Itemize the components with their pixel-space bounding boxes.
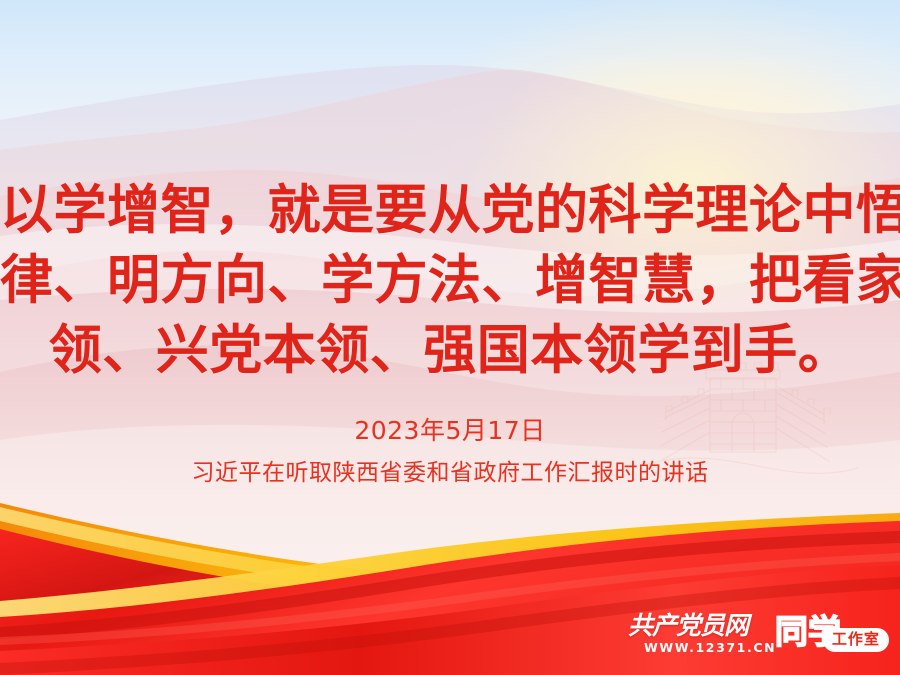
brand-name: 共产党员网 xyxy=(628,612,748,640)
headline-block: 以学增智，就是要从党的科学理论中悟规 律、明方向、学方法、增智慧，把看家本 领、… xyxy=(0,176,900,386)
logo-lockup[interactable]: 共产党员网 WWW.12371.CN 同学 工作室 xyxy=(624,612,886,664)
brand-url: WWW.12371.CN xyxy=(644,641,776,655)
speech-date: 2023年5月17日 xyxy=(0,414,900,447)
headline-line-1: 以学增智，就是要从党的科学理论中悟规 xyxy=(0,176,900,246)
studio-badge: 工作室 xyxy=(823,628,889,652)
brandmark-12371[interactable]: 共产党员网 WWW.12371.CN xyxy=(624,612,773,664)
headline-line-2: 律、明方向、学方法、增智慧，把看家本 xyxy=(0,246,900,316)
headline-line-3: 领、兴党本领、强国本领学到手。 xyxy=(0,316,900,386)
credit-block: 2023年5月17日 习近平在听取陕西省委和省政府工作汇报时的讲话 xyxy=(0,414,900,490)
poster-canvas: 以学增智，就是要从党的科学理论中悟规 律、明方向、学方法、增智慧，把看家本 领、… xyxy=(0,0,900,675)
studio-badge-group[interactable]: 同学 工作室 xyxy=(775,612,886,662)
